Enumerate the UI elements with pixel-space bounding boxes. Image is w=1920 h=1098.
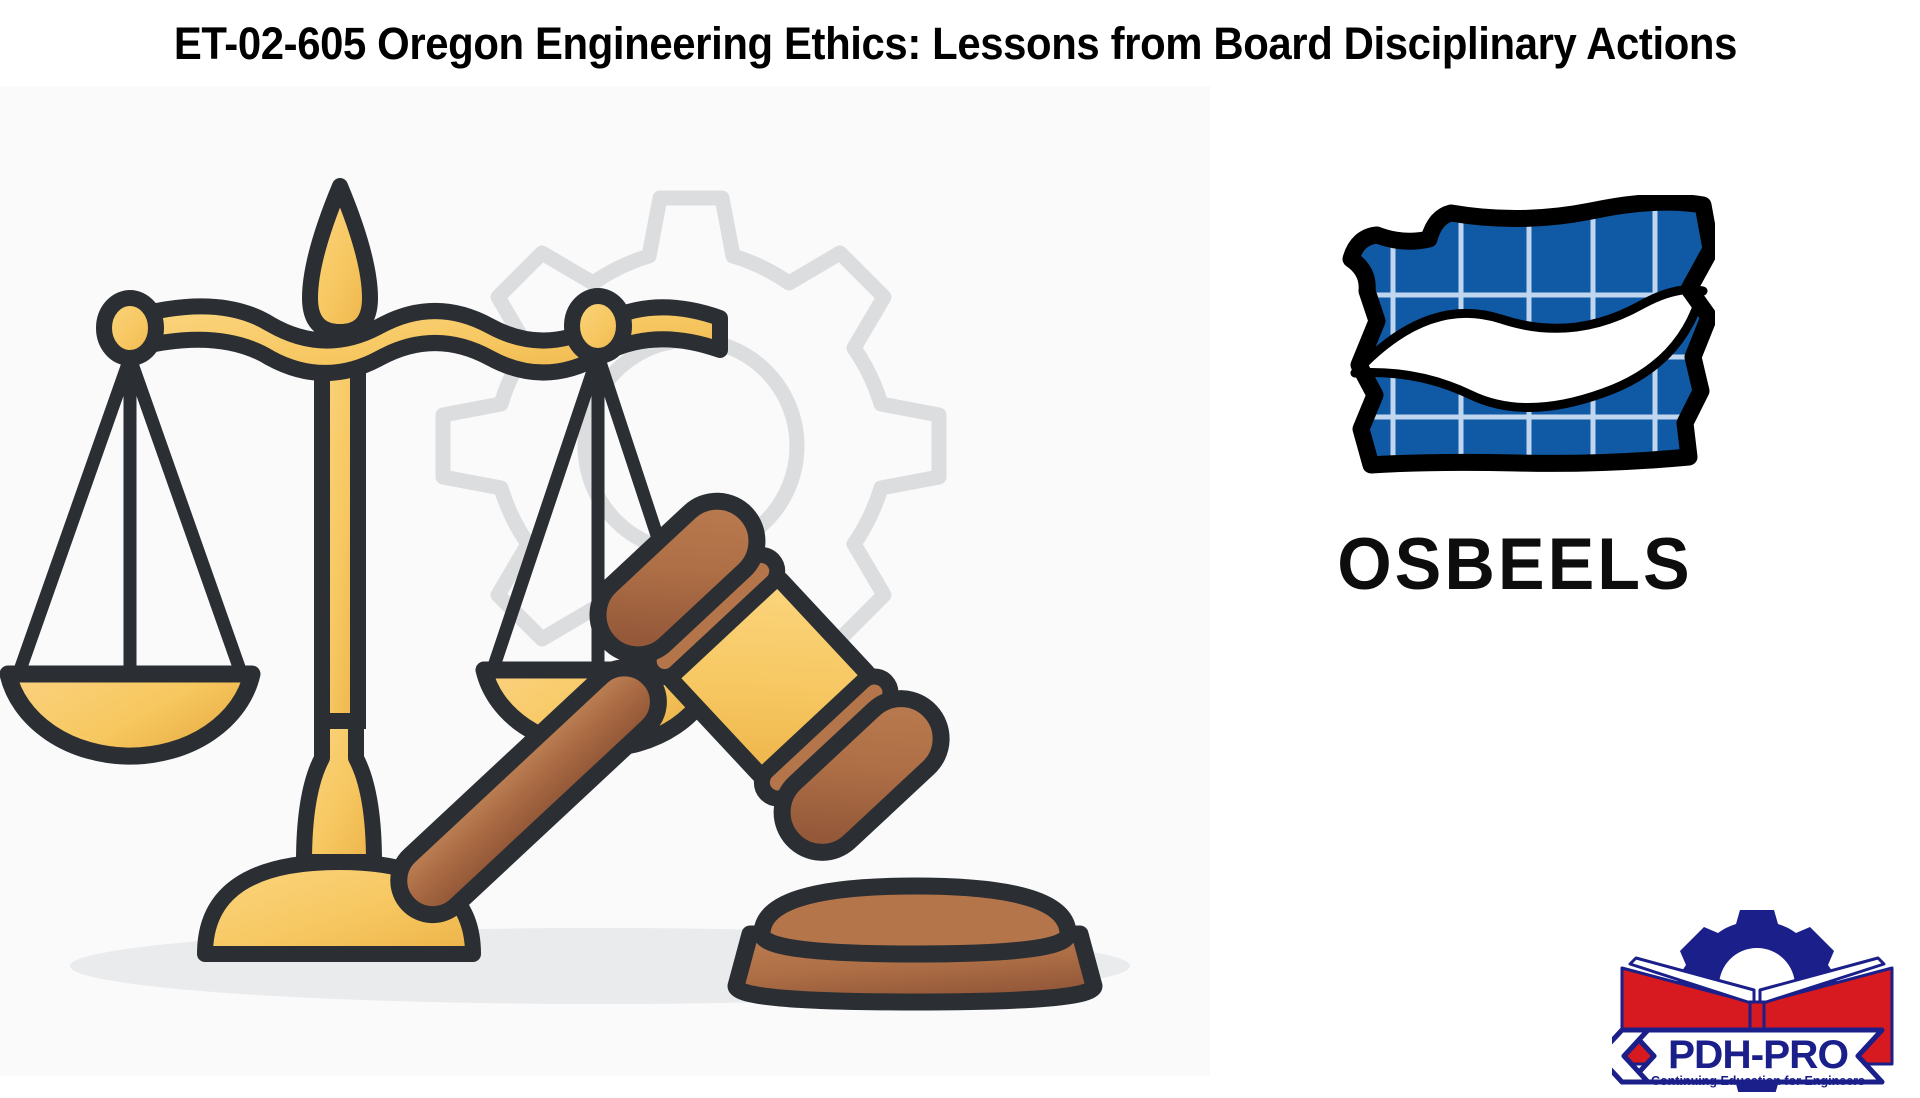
scale-knob-left xyxy=(104,298,156,358)
scale-left-pan xyxy=(8,674,252,756)
pdhpro-wordmark: PDH-PRO xyxy=(1668,1033,1848,1077)
slide-root: ET-02-605 Oregon Engineering Ethics: Les… xyxy=(0,0,1920,1098)
gavel-sound-block-top xyxy=(762,886,1068,954)
scale-left-strings xyxy=(20,358,240,670)
pdhpro-logo: PDH-PRO Continuing Education for Enginee… xyxy=(1612,892,1902,1092)
scale-finial xyxy=(310,186,370,332)
scale-knob-right xyxy=(572,296,624,356)
illustration-panel xyxy=(0,86,1210,1076)
oregon-state-map-icon xyxy=(1315,195,1715,525)
title-bar: ET-02-605 Oregon Engineering Ethics: Les… xyxy=(0,0,1910,86)
pdhpro-logo-icon: PDH-PRO Continuing Education for Enginee… xyxy=(1612,892,1902,1092)
osbeels-logo: OSBEELS xyxy=(1315,195,1715,635)
pdhpro-tagline: Continuing Education for Engineers xyxy=(1651,1073,1865,1088)
osbeels-wordmark: OSBEELS xyxy=(1315,527,1715,601)
page-title: ET-02-605 Oregon Engineering Ethics: Les… xyxy=(173,21,1736,66)
scales-gavel-illustration xyxy=(0,86,1210,1076)
scale-pedestal xyxy=(304,718,374,862)
